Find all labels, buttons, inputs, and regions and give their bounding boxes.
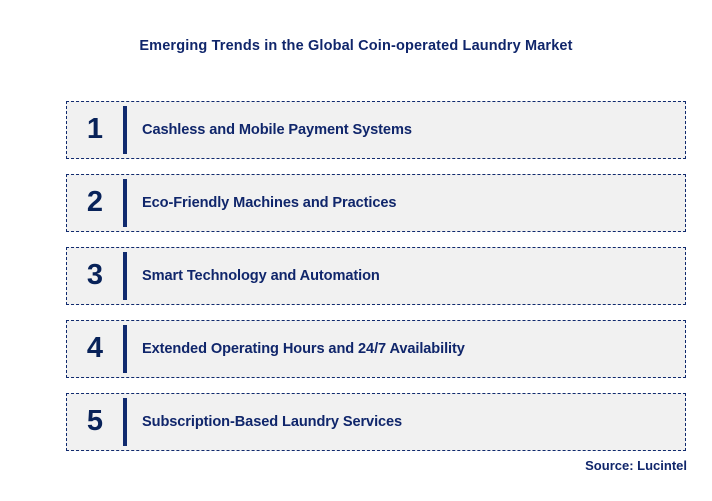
infographic-canvas: Emerging Trends in the Global Coin-opera… (0, 0, 712, 501)
trend-rank-number: 2 (67, 188, 123, 219)
trend-rank-number: 1 (67, 115, 123, 146)
trend-label: Cashless and Mobile Payment Systems (127, 122, 685, 139)
list-item[interactable]: 1 Cashless and Mobile Payment Systems (66, 101, 686, 159)
list-item[interactable]: 5 Subscription-Based Laundry Services (66, 393, 686, 451)
trend-label: Subscription-Based Laundry Services (127, 414, 685, 431)
list-item[interactable]: 4 Extended Operating Hours and 24/7 Avai… (66, 320, 686, 378)
list-item[interactable]: 2 Eco-Friendly Machines and Practices (66, 174, 686, 232)
trend-rank-number: 4 (67, 334, 123, 365)
page-title: Emerging Trends in the Global Coin-opera… (0, 38, 712, 54)
trend-label: Smart Technology and Automation (127, 268, 685, 285)
list-item[interactable]: 3 Smart Technology and Automation (66, 247, 686, 305)
trend-rank-number: 3 (67, 261, 123, 292)
trend-label: Eco-Friendly Machines and Practices (127, 195, 685, 212)
trend-label: Extended Operating Hours and 24/7 Availa… (127, 341, 685, 358)
trend-rank-number: 5 (67, 407, 123, 438)
source-attribution: Source: Lucintel (585, 458, 687, 473)
trend-list: 1 Cashless and Mobile Payment Systems 2 … (66, 101, 686, 451)
